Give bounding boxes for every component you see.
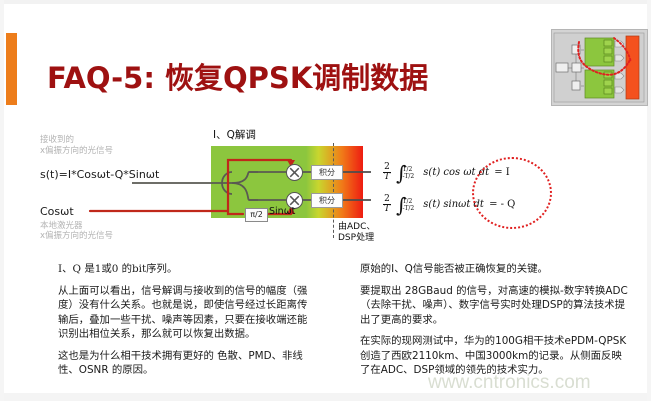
lo-label-line1: 本地激光器 bbox=[40, 221, 83, 231]
formula-q-coefficient: 2 T bbox=[383, 195, 391, 214]
result-highlight-circle bbox=[472, 157, 552, 229]
slide-border-top bbox=[0, 0, 651, 4]
title-accent-bar bbox=[6, 33, 17, 105]
formula-i-limits: T/2 -T/2 bbox=[403, 166, 415, 180]
adc-note-line2: DSP处理 bbox=[338, 233, 374, 243]
site-watermark: www.cntronics.com bbox=[428, 372, 591, 394]
input-label-line2: x偏振方向的光信号 bbox=[40, 146, 113, 156]
right-paragraph-3: 在实际的现网测试中，华为的100G相干技术ePDM-QPSK创造了西欧2110k… bbox=[360, 334, 630, 378]
integrator-box-i: 积分 bbox=[311, 165, 343, 180]
slide-border-left bbox=[0, 0, 4, 401]
input-signal-equation: s(t)=I*Cosωt-Q*Sinωt bbox=[40, 168, 159, 181]
right-paragraph-1: 原始的I、Q信号能否被正确恢复的关键。 bbox=[360, 262, 630, 277]
adc-dsp-note: 由ADC、 DSP处理 bbox=[338, 222, 375, 244]
page-title: FAQ-5: 恢复QPSK调制数据 bbox=[47, 55, 428, 97]
left-paragraph-2: 从上面可以看出，信号解调与接收到的信号的幅度（强度）没有什么关系。也就是说，即使… bbox=[58, 284, 313, 342]
text-column-left: I、Q 是1或0 的bit序列。 从上面可以看出，信号解调与接收到的信号的幅度（… bbox=[58, 262, 313, 385]
text-column-right: 原始的I、Q信号能否被正确恢复的关键。 要提取出 28GBaud 的信号，对高速… bbox=[360, 262, 630, 385]
adc-boundary-divider bbox=[333, 143, 334, 238]
mixer-i-icon bbox=[286, 164, 303, 181]
diagram-section-title: I、Q解调 bbox=[213, 127, 256, 142]
sin-signal-label: Sinωt bbox=[269, 206, 295, 217]
formula-q-limits: T/2 -T/2 bbox=[403, 198, 415, 212]
local-oscillator-signal: Cosωt bbox=[40, 205, 74, 218]
left-paragraph-3: 这也是为什么相干技术拥有更好的 色散、PMD、非线性、OSNR 的原因。 bbox=[58, 349, 313, 378]
adc-note-line1: 由ADC、 bbox=[338, 222, 375, 232]
input-label-line1: 接收到的 bbox=[40, 135, 74, 145]
slide-canvas: FAQ-5: 恢复QPSK调制数据 bbox=[0, 0, 651, 401]
left-paragraph-1: I、Q 是1或0 的bit序列。 bbox=[58, 262, 313, 277]
integrator-box-q: 积分 bbox=[311, 193, 343, 208]
lo-label-line2: x偏振方向的光信号 bbox=[40, 231, 113, 241]
right-paragraph-2: 要提取出 28GBaud 的信号，对高速的模拟-数字转换ADC（去除干扰、噪声）… bbox=[360, 284, 630, 328]
slide-border-bottom bbox=[0, 393, 651, 401]
coherent-receiver-thumbnail bbox=[551, 29, 648, 106]
phase-shifter-box: π/2 bbox=[245, 208, 268, 222]
formula-i-coefficient: 2 T bbox=[383, 163, 391, 182]
